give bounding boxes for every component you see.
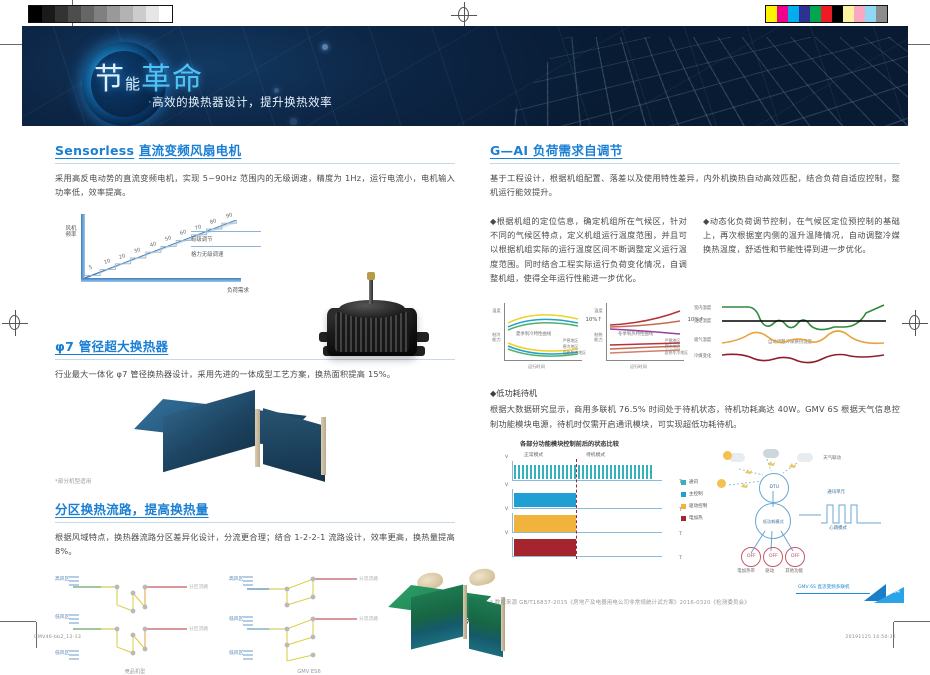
coil-edge-left — [463, 585, 467, 639]
chart-y-axis — [512, 513, 513, 533]
chart-y-axis — [512, 461, 513, 481]
mode-label-standby: 待机模式 — [586, 451, 605, 458]
dynamic-temp-wave-chart: 室内温度 设定温度 吸气温度 冷媒变化 自动调整冷媒换热温度 — [694, 301, 890, 369]
flow-diagram-gmves6: 高风区 低风区 低风区 分流流路 分流流路 GMV ES6 — [229, 567, 389, 667]
banner-subtitle: ·高效的换热器设计，提升换热效率 — [148, 94, 332, 110]
off-node-label: OFF — [791, 554, 800, 560]
legend-item-drive: 驱动控制 — [681, 503, 707, 509]
bar-comm — [514, 465, 654, 479]
section-title-gai: G—AI 负荷需求自调节 — [490, 140, 900, 163]
chart-x-axis — [512, 532, 662, 533]
legend-swatch — [681, 492, 686, 497]
zoned-coil-photo — [403, 567, 455, 667]
off-label-other: 其他功能 — [785, 568, 803, 574]
axis-label-v: V — [505, 507, 508, 512]
section-body-sensorless: 采用高反电动势的直流变频电机，实现 5~90Hz 范围内的无级调速，精度为 1H… — [55, 171, 455, 200]
zone-label: 低风区 — [55, 649, 69, 656]
axis-label-v: V — [505, 531, 508, 536]
mode-divider-line — [576, 459, 577, 559]
color-swatch — [843, 6, 854, 22]
step-value-label: 10 — [103, 259, 111, 267]
legend-label: 电加热 — [689, 515, 703, 521]
right-content-column: G—AI 负荷需求自调节 基于工程设计，根据机组配置、落差以及使用特性差异，内外… — [490, 140, 900, 606]
section-low-power-standby: ◆低功耗待机 根据大数据研究显示，商用多联机 76.5% 时间处于待机状态，待机… — [490, 387, 900, 606]
chart-y-label: 风机频率 — [65, 226, 77, 238]
banner-subtitle-text: 高效的换热器设计，提升换热效率 — [152, 95, 332, 109]
legend-label-2: 格力无级调速 — [191, 250, 261, 258]
off-label-drive: 驱动 — [765, 568, 774, 574]
gray-swatch — [55, 6, 68, 22]
section-title-en: Sensorless — [55, 143, 134, 158]
step-value-label: 20 — [118, 253, 126, 261]
gray-swatch — [159, 6, 172, 22]
gray-swatch — [146, 6, 159, 22]
page-number: 0004 — [887, 589, 900, 595]
chart-series-legend: 严寒地区 寒冷地区 夏热冬冷地区 — [563, 338, 586, 356]
legend-item-main: 主控制 — [681, 491, 707, 497]
axis-label-v: V — [505, 455, 508, 460]
zone-label: 高风区 — [229, 575, 243, 582]
section-title-zoned-flow-text: 分区换热流路，提高换热量 — [55, 502, 209, 517]
section-title-standby: ◆低功耗待机 — [490, 387, 900, 399]
section-title-phi7-text: φ7 管径超大换热器 — [55, 339, 168, 354]
chart-x-axis — [512, 480, 662, 481]
section-body-gai: 基于工程设计，根据机组配置、落差以及使用特性差异，内外机换热自动高效匹配，结合负… — [490, 171, 900, 200]
gai-bullet-1: ◆根据机组的定位信息，确定机组所在气候区，针对不同的气候区特点，定义机组运行温度… — [490, 214, 687, 286]
banner-dot — [274, 88, 279, 93]
section-title-sensorless: Sensorless 直流变频风扇电机 — [55, 140, 455, 163]
color-swatch — [766, 6, 777, 22]
color-calibration-strip — [765, 5, 888, 23]
color-swatch — [865, 6, 876, 22]
banner-title: 节能革命 — [94, 54, 203, 98]
section-zoned-flow: 分区换热流路，提高换热量 根据风域特点，换热器流路分区差异化设计，分流更合理；结… — [55, 499, 455, 667]
btu-hub-label: DTU — [769, 485, 779, 491]
cloud-icon — [797, 453, 813, 462]
bar-row-comm: V T — [512, 461, 672, 483]
registration-mark-left — [2, 310, 28, 336]
legend-item-comm: 通讯 — [681, 479, 707, 485]
comm-unit-label: 通讯单元 — [827, 489, 845, 495]
standby-module-power-chart: 各部分功能模块控制前后的状态比较 正常模式 待机模式 V T V T — [490, 451, 699, 561]
step-value-label: 5 — [88, 265, 93, 272]
color-swatch — [788, 6, 799, 22]
left-content-column: Sensorless 直流变频风扇电机 采用高反电动势的直流变频电机，实现 5~… — [55, 140, 455, 667]
btu-connectors — [705, 447, 905, 572]
grayscale-calibration-strip — [28, 5, 173, 23]
climate-charts-row: 温度 制冷能力 运行时间 10%↑ 夏季制冷特性曲线 严寒地区 — [490, 301, 900, 369]
header-banner: 节能革命 ·高效的换热器设计，提升换热效率 — [22, 26, 908, 126]
axis-label-v: V — [505, 483, 508, 488]
banner-title-char-1: 节 — [94, 62, 125, 97]
footer-ribbon: GMV 6S 直流变频多联机 0004 — [796, 582, 916, 606]
gray-swatch — [94, 6, 107, 22]
hx-edge-right — [321, 417, 326, 475]
legend-entry: 夏热冬冷地区 — [665, 350, 688, 356]
section-divider — [55, 522, 455, 523]
legend-swatch — [681, 516, 686, 521]
axis-label-t: T — [679, 556, 682, 561]
chart-legend: 有级调节 格力无级调速 — [191, 228, 261, 258]
gray-swatch — [120, 6, 133, 22]
footer-code-left: GMV46-bb2_12-13 — [34, 635, 81, 640]
flow-out-label: 分区流路 — [189, 583, 208, 590]
section-title-gai-text: G—AI 负荷需求自调节 — [490, 143, 623, 158]
chart-y-axis — [512, 489, 513, 509]
motor-shaft-tip — [367, 272, 375, 280]
section-title-zoned-flow: 分区换热流路，提高换热量 — [55, 499, 455, 522]
btu-standby-diagram: 天气联动 DTU 低功耗模式 通讯单元 心跳模式 OFF OFF OFF — [705, 447, 900, 572]
section-divider — [55, 163, 455, 164]
mode-label-normal: 正常模式 — [524, 451, 543, 458]
zone-label: 低风区 — [55, 613, 69, 620]
ribbon-rule — [796, 593, 870, 594]
legend-entry: 夏热冬冷地区 — [563, 350, 586, 356]
chart-x-axis — [81, 278, 241, 282]
banner-dot — [322, 44, 328, 50]
legend-line-1 — [191, 231, 261, 232]
standby-figures-row: 各部分功能模块控制前后的状态比较 正常模式 待机模式 V T V T — [490, 447, 900, 572]
flow-diagram-caption-gmves6: GMV ES6 — [297, 669, 321, 675]
banner-title-char-2: 能 — [125, 75, 141, 93]
step-value-label: 50 — [164, 235, 172, 243]
legend-line-2 — [191, 246, 261, 247]
bar-drive — [514, 515, 576, 532]
section-gai-load: G—AI 负荷需求自调节 基于工程设计，根据机组配置、落差以及使用特性差异，内外… — [490, 140, 900, 369]
color-swatch — [799, 6, 810, 22]
ribbon-label: GMV 6S 直流变频多联机 — [798, 584, 850, 590]
bar-row-heater: V T — [512, 537, 672, 559]
step-value-label: 60 — [179, 230, 187, 238]
section-title-cn: 直流变频风扇电机 — [139, 143, 241, 158]
chart-x-axis — [512, 556, 662, 557]
motor-shaft — [369, 276, 373, 304]
low-power-mode-label: 低功耗模式 — [763, 519, 784, 524]
winter-climate-chart: 温度 制热能力 运行时间 10%↑ 冬季制热特性曲线 严寒地区 — [592, 301, 688, 369]
heartbeat-mode-label: 心跳模式 — [829, 525, 847, 531]
legend-label: 通讯 — [689, 479, 698, 485]
section-body-zoned-flow: 根据风域特点，换热器流路分区差异化设计，分流更合理；结合 1-2-2-1 流路设… — [55, 530, 455, 559]
legend-swatch — [681, 504, 686, 509]
fan-speed-step-chart: 风机频率 负荷需求 5102030405060708090 有级调节 格力无级调… — [55, 210, 255, 290]
legend-label: 主控制 — [689, 491, 703, 497]
rain-icon — [763, 449, 779, 458]
dc-fan-motor-photo — [313, 270, 433, 370]
off-label-heater: 电加热带 — [737, 568, 755, 574]
axis-label-t: T — [679, 532, 682, 537]
color-swatch — [821, 6, 832, 22]
bar-heater — [514, 539, 576, 556]
color-swatch — [810, 6, 821, 22]
flow-out-label: 分流流路 — [359, 575, 378, 582]
banner-title-second: 革命 — [141, 62, 203, 97]
color-swatch — [832, 6, 843, 22]
registration-mark-right — [902, 310, 928, 336]
registration-mark-top — [451, 2, 477, 28]
step-value-label: 30 — [134, 247, 142, 255]
section-body-standby: 根据大数据研究显示，商用多联机 76.5% 时间处于待机状态，待机功耗高达 40… — [490, 402, 900, 431]
color-swatch — [854, 6, 865, 22]
flow-diagram-competitor-svg — [55, 567, 215, 665]
flow-diagrams-row: 高风区 低风区 低风区 分区流路 分区流路 竞品机型 — [55, 567, 455, 667]
zone-label: 低风区 — [229, 615, 243, 622]
chart-x-axis — [512, 508, 662, 509]
legend-label-1: 有级调节 — [191, 235, 261, 243]
color-swatch — [777, 6, 788, 22]
chart-y-axis — [512, 537, 513, 557]
gai-bullet-2: ◆动态化负荷调节控制，在气候区定位预控制的基础上，再次根据室内侧的温升温降情况，… — [703, 214, 900, 286]
chart-title: 各部分功能模块控制前后的状态比较 — [520, 439, 619, 448]
bar-main — [514, 493, 576, 507]
zone-label: 高风区 — [55, 575, 69, 582]
step-value-label: 80 — [210, 218, 218, 226]
zone-label: 低风区 — [229, 649, 243, 656]
gray-swatch — [68, 6, 81, 22]
step-value-label: 90 — [225, 212, 233, 220]
footer-code-right: 20191125 14:50:32 — [845, 635, 896, 640]
flow-out-label: 分流流路 — [359, 615, 378, 622]
wave-curves — [694, 301, 890, 369]
gray-swatch — [133, 6, 146, 22]
gray-swatch — [107, 6, 120, 22]
legend-swatch — [681, 480, 686, 485]
gray-swatch — [29, 6, 42, 22]
flow-out-label: 分区流路 — [189, 625, 208, 632]
summer-climate-chart: 温度 制冷能力 运行时间 10%↑ 夏季制冷特性曲线 严寒地区 — [490, 301, 586, 369]
chart-x-label: 负荷需求 — [227, 286, 249, 294]
flow-diagram-competitor: 高风区 低风区 低风区 分区流路 分区流路 竞品机型 — [55, 567, 215, 667]
gai-bullets-row: ◆根据机组的定位信息，确定机组所在气候区，针对不同的气候区特点，定义机组运行温度… — [490, 214, 900, 286]
hx-right-panel — [263, 408, 325, 482]
off-node-label: OFF — [769, 554, 778, 560]
color-swatch — [876, 6, 887, 22]
gray-swatch — [42, 6, 55, 22]
motor-cooling-fins — [335, 312, 409, 352]
bar-row-drive: V T — [512, 513, 672, 535]
heat-exchanger-illustration — [145, 395, 375, 475]
weather-link-label: 天气联动 — [823, 455, 841, 461]
off-node-label: OFF — [747, 554, 756, 560]
winter-curves — [592, 301, 688, 369]
section-sensorless-motor: Sensorless 直流变频风扇电机 采用高反电动势的直流变频电机，实现 5~… — [55, 140, 455, 330]
hx-edge-left — [255, 409, 260, 467]
legend-item-heater: 电加热 — [681, 515, 707, 521]
banner-dot — [290, 118, 297, 125]
section-note-phi7: *部分机型适用 — [55, 477, 455, 485]
section-divider — [490, 163, 900, 164]
step-value-label: 40 — [149, 241, 157, 249]
chart-series-legend: 严寒地区 寒冷地区 夏热冬冷地区 — [665, 338, 688, 356]
gray-swatch — [81, 6, 94, 22]
summer-curves — [490, 301, 586, 369]
bar-row-main: V T — [512, 489, 672, 511]
chart-legend: 通讯 主控制 驱动控制 电加热 — [681, 479, 707, 527]
flow-diagram-caption-competitor: 竞品机型 — [125, 668, 146, 675]
